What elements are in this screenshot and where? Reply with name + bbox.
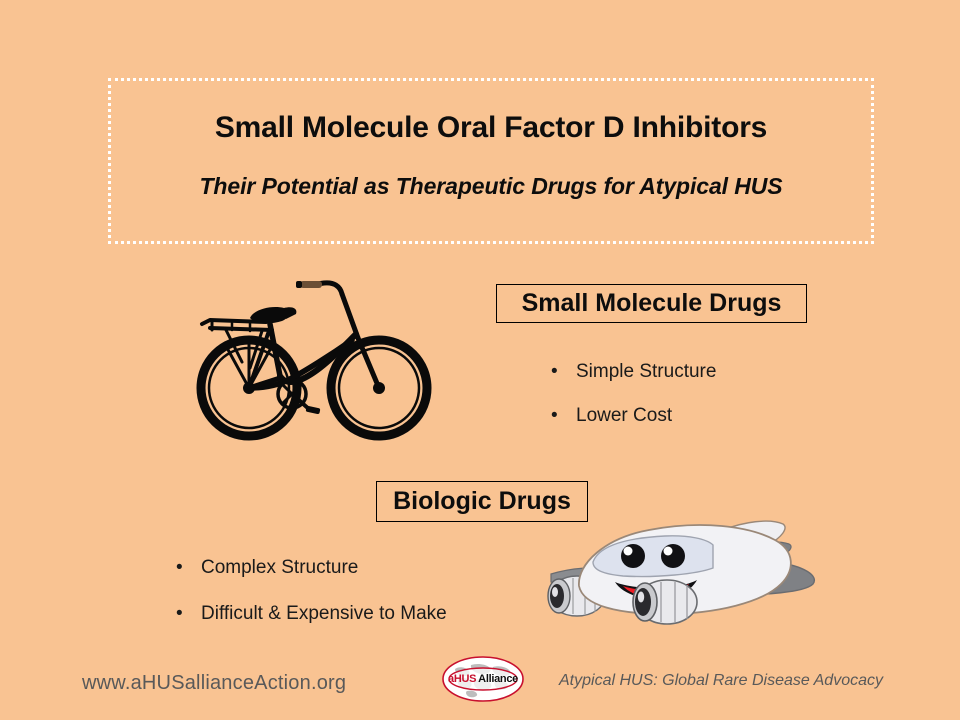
- ahus-alliance-logo: aHUS Alliance: [441, 655, 525, 703]
- bicycle-illustration: [192, 276, 436, 442]
- small-molecule-bullet-list: • Simple Structure • Lower Cost: [549, 350, 716, 438]
- page-subtitle: Their Potential as Therapeutic Drugs for…: [111, 173, 871, 200]
- small-molecule-drugs-heading-box: Small Molecule Drugs: [496, 284, 807, 323]
- list-item-label: Complex Structure: [201, 557, 358, 578]
- bullet-icon: •: [551, 394, 558, 438]
- bullet-icon: •: [176, 545, 183, 591]
- biologic-bullet-list: • Complex Structure • Difficult & Expens…: [174, 545, 447, 637]
- list-item-label: Simple Structure: [576, 361, 716, 382]
- slide-canvas: Small Molecule Oral Factor D Inhibitors …: [0, 0, 960, 720]
- footer-tagline: Atypical HUS: Global Rare Disease Advoca…: [559, 672, 883, 690]
- airplane-illustration: [537, 512, 821, 634]
- ahus-alliance-logo-icon: [441, 655, 525, 703]
- small-molecule-drugs-label: Small Molecule Drugs: [522, 289, 782, 318]
- bullet-icon: •: [551, 350, 558, 394]
- title-box: Small Molecule Oral Factor D Inhibitors …: [108, 78, 874, 244]
- list-item-label: Difficult & Expensive to Make: [201, 603, 447, 624]
- bullet-icon: •: [176, 591, 183, 637]
- footer-website-url[interactable]: www.aHUSallianceAction.org: [82, 672, 346, 695]
- page-title: Small Molecule Oral Factor D Inhibitors: [111, 111, 871, 145]
- list-item: • Difficult & Expensive to Make: [174, 591, 447, 637]
- list-item: • Lower Cost: [549, 394, 716, 438]
- list-item: • Simple Structure: [549, 350, 716, 394]
- list-item: • Complex Structure: [174, 545, 447, 591]
- list-item-label: Lower Cost: [576, 405, 672, 426]
